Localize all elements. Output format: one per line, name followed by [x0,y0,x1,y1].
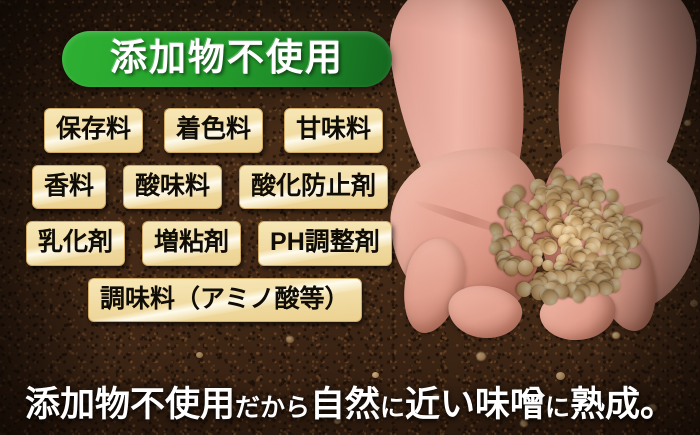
additive-tag: 乳化剤 [26,221,125,266]
additive-tag-row: 乳化剤増粘剤PH調整剤 [0,221,450,266]
additive-tag-label: 香料 [44,172,94,200]
additive-tag: 酸味料 [123,165,222,210]
additive-tag-list: 保存料着色料甘味料香料酸味料酸化防止剤乳化剤増粘剤PH調整剤調味料（アミノ酸等） [0,108,450,334]
additive-tag-row: 調味料（アミノ酸等） [0,278,450,323]
additive-tag: 甘味料 [284,108,383,153]
additive-tag-label: 調味料（アミノ酸等） [100,285,350,313]
headline-pill: 添加物不使用 [62,31,392,87]
additive-tag-label: PH調整剤 [270,228,380,256]
caption-segment: に [545,394,570,422]
additive-tag-label: 酸味料 [135,172,210,200]
additive-tag: 調味料（アミノ酸等） [88,278,362,323]
caption-segment: 熟成。 [570,385,675,424]
additive-tag: 増粘剤 [142,221,241,266]
bottom-caption: 添加物不使用だから自然に近い味噌に熟成。 [0,376,700,427]
additive-tag: PH調整剤 [258,221,392,266]
additive-tag-label: 保存料 [56,115,131,143]
additive-tag: 酸化防止剤 [239,165,388,210]
additive-tag-row: 保存料着色料甘味料 [0,108,450,153]
product-banner: 添加物不使用 保存料着色料甘味料香料酸味料酸化防止剤乳化剤増粘剤PH調整剤調味料… [0,0,700,435]
headline-text: 添加物不使用 [110,39,344,79]
additive-tag-label: 乳化剤 [38,228,113,256]
additive-tag: 保存料 [44,108,143,153]
caption-segment: 自然 [310,385,380,424]
caption-segment: だから [235,394,310,422]
additive-tag-label: 甘味料 [296,115,371,143]
additive-tag-label: 増粘剤 [154,228,229,256]
caption-segment: 近い味噌 [405,385,545,424]
additive-tag: 着色料 [164,108,263,153]
additive-tag-label: 着色料 [176,115,251,143]
additive-tag: 香料 [32,165,106,210]
additive-tag-row: 香料酸味料酸化防止剤 [0,165,450,210]
additive-tag-label: 酸化防止剤 [251,172,376,200]
caption-segment: に [380,394,405,422]
caption-segment: 添加物不使用 [25,385,235,424]
